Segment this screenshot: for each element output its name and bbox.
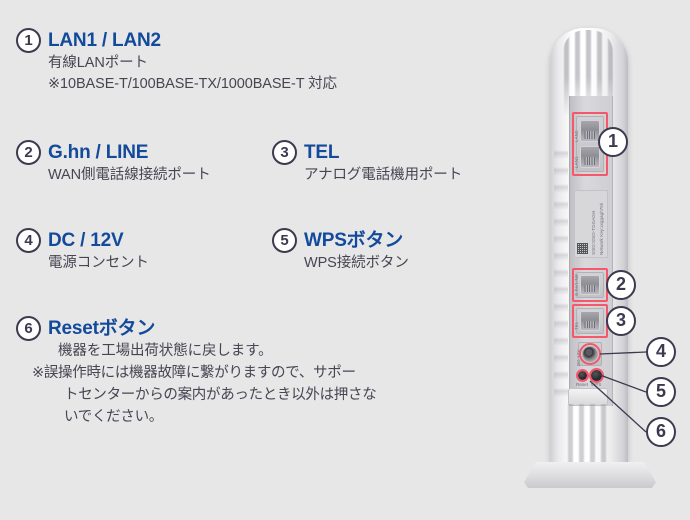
- router-illustration: LAN2 LAN1 SSID:SSID-TGGAGH Network Key:x…: [520, 0, 690, 520]
- reset-button-label: Reset: [576, 382, 588, 387]
- number-badge-3: 3: [272, 140, 297, 165]
- legend-entry-4-head: 4 DC / 12V: [16, 228, 149, 253]
- legend-entry-1: 1 LAN1 / LAN2 有線LANポート ※10BASE-T/100BASE…: [16, 28, 337, 95]
- legend-entry-1-head: 1 LAN1 / LAN2: [16, 28, 337, 53]
- router-stand: [524, 462, 656, 488]
- legend-entry-3: 3 TEL アナログ電話機用ポート: [272, 140, 462, 186]
- legend-entry-6-title: Resetボタン: [48, 316, 155, 341]
- legend-entry-2-desc-line-1: WAN側電話線接続ポート: [48, 165, 211, 186]
- legend-entry-3-head: 3 TEL: [272, 140, 462, 165]
- dc-jack-highlight: [579, 343, 601, 365]
- number-badge-1: 1: [16, 28, 41, 53]
- tel-port-highlight: [572, 304, 608, 338]
- callout-badge-4: 4: [646, 337, 676, 367]
- callout-badge-1: 1: [598, 127, 628, 157]
- legend-entry-1-desc-line-1: 有線LANポート: [48, 53, 337, 74]
- callout-badge-2: 2: [606, 270, 636, 300]
- bottom-vent-slots: [567, 404, 611, 462]
- wps-button-highlight: [589, 368, 604, 383]
- legend-panel: 1 LAN1 / LAN2 有線LANポート ※10BASE-T/100BASE…: [0, 0, 520, 520]
- diagram-canvas: 1 LAN1 / LAN2 有線LANポート ※10BASE-T/100BASE…: [0, 0, 690, 520]
- legend-entry-5-desc-line-1: WPS接続ボタン: [304, 253, 409, 274]
- callout-badge-5: 5: [646, 377, 676, 407]
- reset-button-highlight: [576, 369, 589, 382]
- number-badge-5: 5: [272, 228, 297, 253]
- sticker-key-text: Network Key:xxggagh75h: [599, 203, 604, 255]
- legend-entry-2-title: G.hn / LINE: [48, 140, 148, 165]
- legend-entry-5: 5 WPSボタン WPS接続ボタン: [272, 228, 409, 274]
- legend-entry-4-desc-line-1: 電源コンセント: [48, 253, 149, 274]
- ghn-port-highlight: [572, 268, 608, 302]
- legend-entry-6-desc-line-1: 機器を工場出荷状態に戻します。: [58, 341, 376, 362]
- legend-entry-6: 6 Resetボタン 機器を工場出荷状態に戻します。 ※誤操作時には機器故障に繋…: [16, 316, 376, 428]
- number-badge-6: 6: [16, 316, 41, 341]
- legend-entry-4-title: DC / 12V: [48, 228, 124, 253]
- legend-entry-1-desc-line-2: ※10BASE-T/100BASE-TX/1000BASE-T 対応: [48, 74, 337, 95]
- legend-entry-5-head: 5 WPSボタン: [272, 228, 409, 253]
- callout-badge-3: 3: [606, 306, 636, 336]
- legend-entry-3-title: TEL: [304, 140, 339, 165]
- sticker-ssid-text: SSID:SSID-TGGAGH: [591, 211, 596, 255]
- legend-entry-2-head: 2 G.hn / LINE: [16, 140, 211, 165]
- legend-entry-1-title: LAN1 / LAN2: [48, 28, 161, 53]
- legend-entry-2: 2 G.hn / LINE WAN側電話線接続ポート: [16, 140, 211, 186]
- legend-entry-4: 4 DC / 12V 電源コンセント: [16, 228, 149, 274]
- legend-entry-6-note-line-1: ※誤操作時には機器故障に繋がりますので、サポー: [48, 362, 376, 384]
- qr-code-icon: [577, 243, 588, 254]
- legend-entry-6-note-line-2: トセンターからの案内があったとき以外は押さな: [64, 384, 376, 406]
- wps-button-label: WPS: [591, 382, 601, 387]
- legend-entry-3-desc-line-1: アナログ電話機用ポート: [304, 165, 462, 186]
- number-badge-4: 4: [16, 228, 41, 253]
- legend-entry-6-note-line-3: いでください。: [64, 406, 376, 428]
- ssid-sticker: SSID:SSID-TGGAGH Network Key:xxggagh75h: [574, 190, 608, 258]
- legend-entry-6-head: 6 Resetボタン: [16, 316, 376, 341]
- callout-badge-6: 6: [646, 417, 676, 447]
- number-badge-2: 2: [16, 140, 41, 165]
- legend-entry-5-title: WPSボタン: [304, 228, 403, 253]
- side-ridge-texture: [554, 150, 568, 400]
